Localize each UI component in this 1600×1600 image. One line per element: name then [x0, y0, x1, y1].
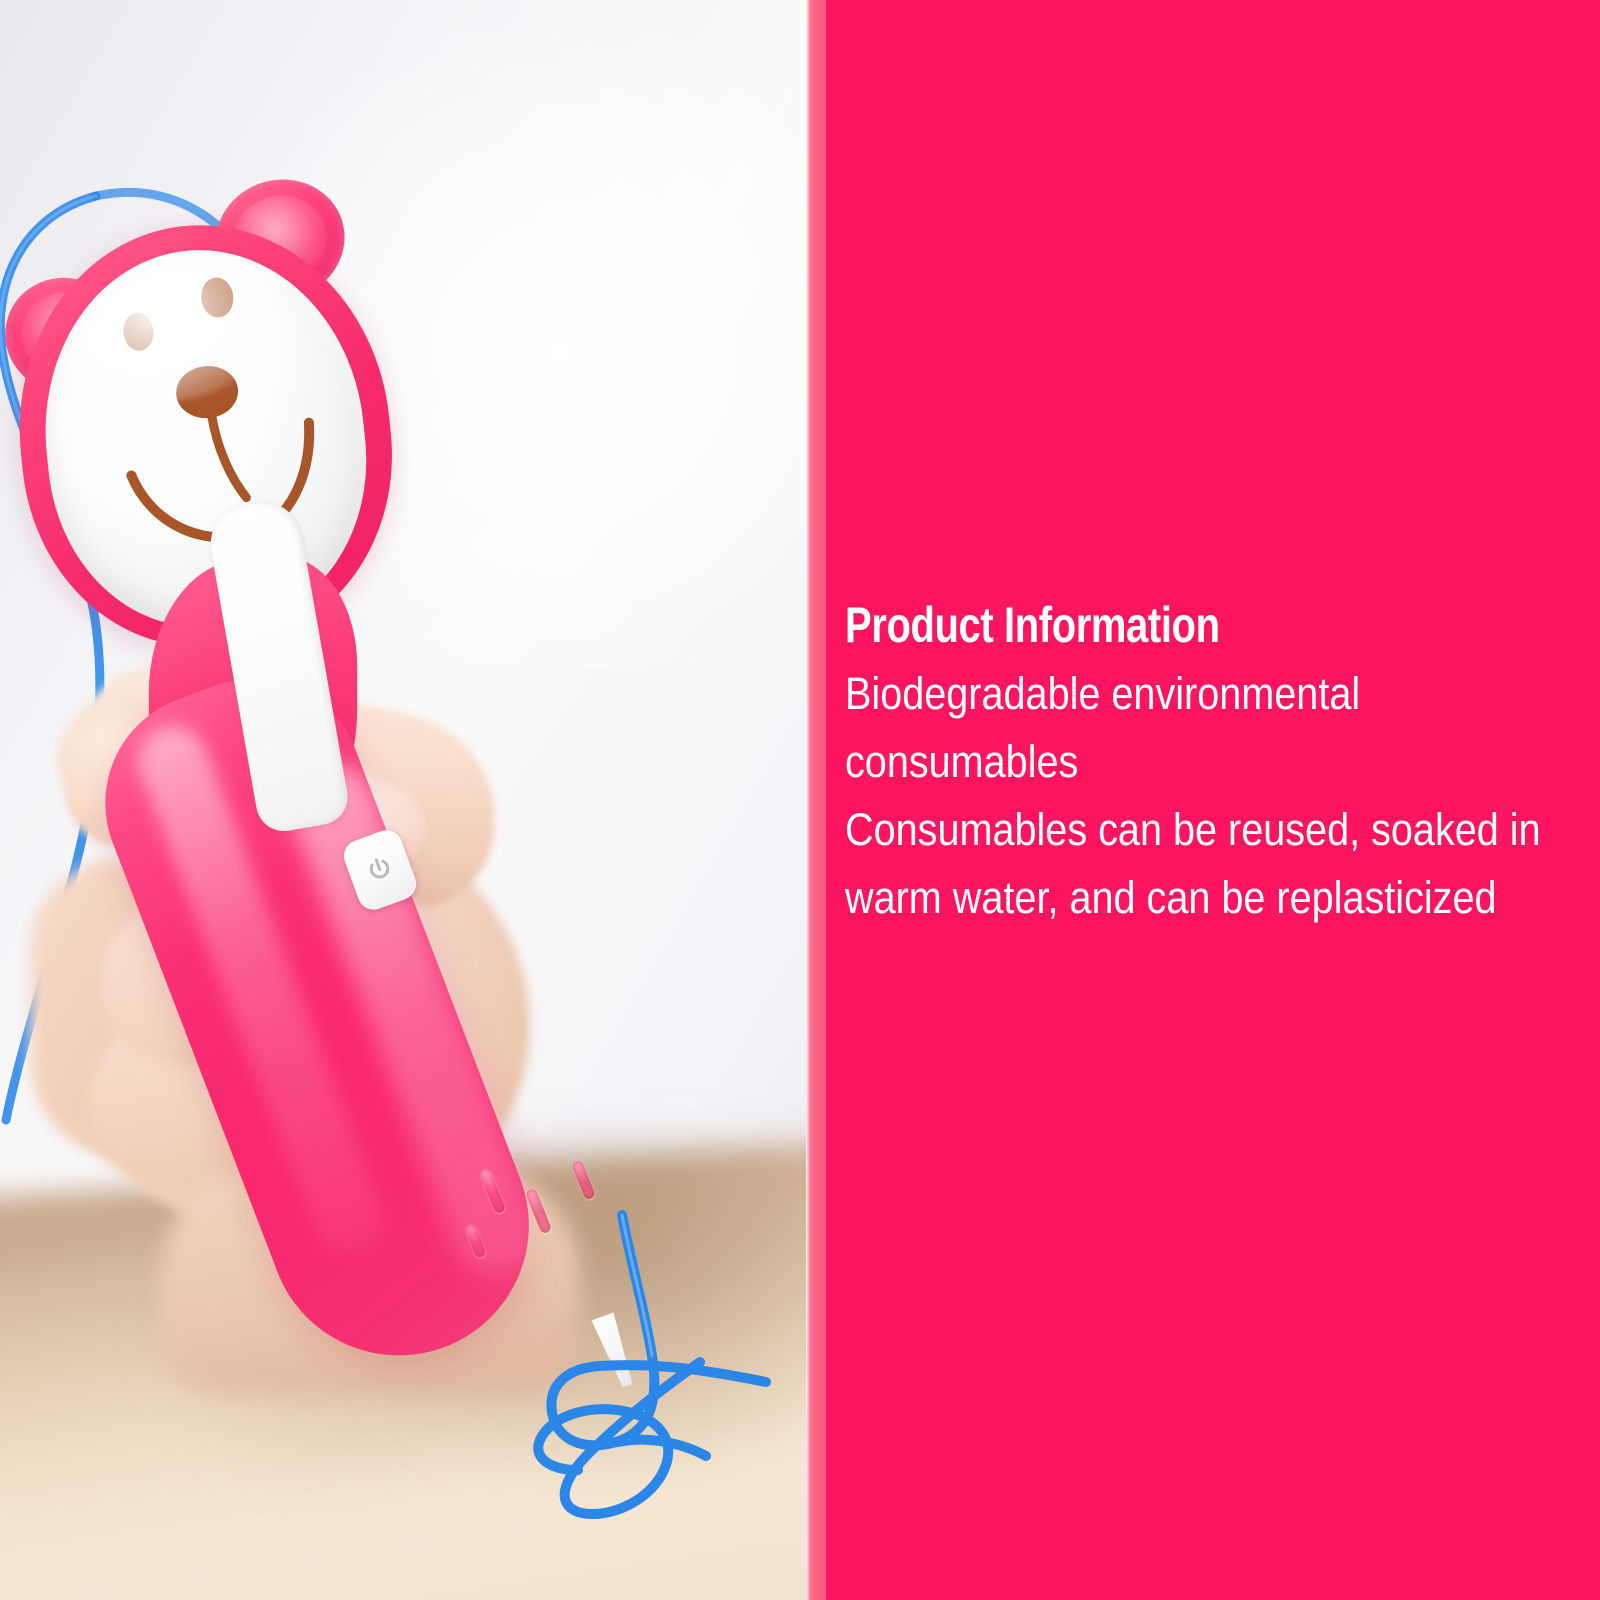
product-information-body: Biodegradable environmental consumables …: [845, 660, 1584, 932]
info-paragraph-2: Consumables can be reused, soaked in war…: [845, 796, 1584, 932]
product-photo-panel: [0, 0, 806, 1600]
accent-divider-strip: [806, 0, 826, 1600]
product-information-title: Product Information: [845, 600, 1437, 650]
product-marketing-banner: Product Information Biodegradable enviro…: [0, 0, 1600, 1600]
info-paragraph-1: Biodegradable environmental consumables: [845, 660, 1584, 796]
product-information-panel: Product Information Biodegradable enviro…: [826, 0, 1600, 1600]
extruded-filament-drawing: [0, 0, 806, 1600]
